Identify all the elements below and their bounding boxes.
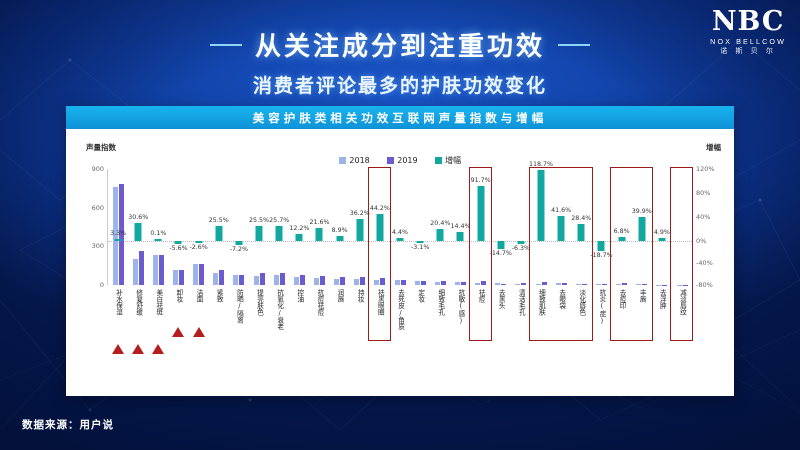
growth-data-label: 0.1%	[150, 230, 166, 237]
growth-bar	[296, 234, 303, 241]
bar-2019	[401, 280, 406, 285]
bar-2018	[636, 284, 641, 285]
legend-label: 2018	[349, 156, 369, 165]
x-axis-label-item: 去眼袋	[551, 289, 571, 349]
x-axis-label-text: 修复舒缓	[135, 289, 142, 349]
chart-card-header-label: 美容护肤类相关功效互联网声量指数与增幅	[253, 110, 548, 126]
chart-column: 36.2%	[350, 169, 370, 285]
growth-bar	[437, 229, 444, 241]
bar-2019	[622, 283, 627, 285]
x-axis-label-text: 祛黑眼圈	[376, 289, 383, 349]
legend-swatch-icon	[387, 157, 394, 164]
bar-2019	[360, 277, 365, 285]
x-axis-label-item: 抗痘祛痘	[309, 289, 329, 349]
chart-column: 44.2%	[370, 169, 390, 285]
bar-2018	[354, 279, 359, 285]
chart-column: 12.2%	[289, 169, 309, 285]
bar-2019	[521, 283, 526, 285]
chart-column: 3.3%	[108, 169, 128, 285]
bar-pair	[491, 169, 511, 285]
bar-pair	[148, 169, 168, 285]
chart-column: -3.1%	[410, 169, 430, 285]
bar-2019	[421, 281, 426, 285]
x-axis-label-text: 抗痘祛痘	[316, 289, 323, 349]
legend-swatch-icon	[435, 157, 442, 164]
y-tick-right: 40%	[696, 213, 710, 221]
chart-column: 8.9%	[330, 169, 350, 285]
x-axis-label-item: 持妆	[350, 289, 370, 349]
x-axis-label-item: 细致肌肤	[531, 289, 551, 349]
bar-2018	[193, 264, 198, 285]
x-axis-label-text: 洁面	[195, 289, 202, 349]
slide-title-block: 从关注成分到注重功效 消费者评论最多的护肤功效变化	[0, 26, 800, 98]
x-axis-label-item: 抗敏(感)	[450, 289, 470, 349]
bar-2018	[415, 281, 420, 285]
x-axis-label-text: 丰唇	[638, 289, 645, 349]
chart-plot: 9006003000120%80%40%0%-40%-80%3.3%30.6%0…	[108, 169, 692, 285]
x-axis-label-text: 去浮肿	[658, 289, 665, 349]
x-axis-label-item: 美白祛斑	[148, 289, 168, 349]
bar-2018	[556, 283, 561, 285]
growth-bar	[397, 238, 404, 241]
page-subtitle: 消费者评论最多的护肤功效变化	[0, 71, 800, 98]
legend-item-增幅: 增幅	[435, 155, 462, 166]
bar-2018	[455, 282, 460, 285]
chart-column: 14.4%	[450, 169, 470, 285]
bar-2019	[239, 275, 244, 285]
legend-item-2019: 2019	[387, 155, 418, 166]
bar-2019	[300, 275, 305, 285]
x-axis-label-text: 去痘印	[618, 289, 625, 349]
chart-column	[672, 169, 692, 285]
growth-bar	[598, 241, 605, 251]
bar-2019	[139, 251, 144, 285]
growth-data-label: -5.6%	[169, 245, 187, 252]
x-axis-label-item: 去死皮/角质	[390, 289, 410, 349]
bar-2018	[475, 283, 480, 285]
chart-column: -14.7%	[491, 169, 511, 285]
bar-2019	[662, 285, 667, 286]
bar-2018	[274, 275, 279, 285]
growth-bar	[578, 224, 585, 241]
growth-data-label: 20.4%	[430, 220, 450, 227]
bar-2019	[481, 281, 486, 285]
bar-2018	[515, 284, 520, 285]
red-triangle-marker-icon	[172, 327, 184, 337]
chart-column: -18.7%	[591, 169, 611, 285]
bar-2018	[334, 279, 339, 285]
growth-data-label: 25.5%	[249, 217, 269, 224]
bar-2018	[616, 284, 621, 285]
bar-2019	[542, 282, 547, 285]
bar-2019	[280, 273, 285, 285]
chart-column: 25.5%	[209, 169, 229, 285]
bar-2019	[179, 270, 184, 285]
x-axis-label-text: 减淡唇纹	[679, 289, 686, 349]
growth-bar	[175, 241, 182, 244]
y-tick-right: -40%	[696, 259, 713, 267]
bar-2018	[435, 282, 440, 285]
growth-bar	[316, 228, 323, 241]
bar-2018	[374, 280, 379, 285]
bar-2019	[562, 283, 567, 285]
growth-data-label: -14.7%	[490, 250, 512, 257]
x-axis-label-item: 祛痘	[471, 289, 491, 349]
x-axis-label-text: 提亮肤色	[256, 289, 263, 349]
growth-bar	[538, 170, 545, 241]
x-axis-label-text: 定妆	[417, 289, 424, 349]
x-axis-label-item: 润唇	[330, 289, 350, 349]
x-axis-label-item: 提亮肤色	[249, 289, 269, 349]
growth-data-label: 3.3%	[110, 230, 126, 237]
chart-column: 39.9%	[632, 169, 652, 285]
x-axis-label-text: 持妆	[356, 289, 363, 349]
chart-column: 0.1%	[148, 169, 168, 285]
x-axis-label-item: 定妆	[410, 289, 430, 349]
growth-data-label: 14.4%	[450, 223, 470, 230]
bar-2018	[495, 283, 500, 285]
x-axis-label-item: 控油	[289, 289, 309, 349]
bar-2019	[582, 284, 587, 285]
x-axis-label-text: 润唇	[336, 289, 343, 349]
bar-2019	[642, 284, 647, 285]
chart-area: 声量指数 增幅 20182019增幅 9006003000120%80%40%0…	[66, 129, 734, 396]
bar-pair	[410, 169, 430, 285]
growth-bar	[376, 214, 383, 240]
growth-bar	[256, 226, 263, 241]
growth-data-label: 36.2%	[350, 210, 370, 217]
x-axis-label-item: 抗炎(症)	[591, 289, 611, 349]
chart-column: -6.3%	[511, 169, 531, 285]
page-title: 从关注成分到注重功效	[255, 26, 545, 63]
x-axis-label-text: 去黑头	[497, 289, 504, 349]
x-axis-label-item: 补水保湿	[108, 289, 128, 349]
chart-column: 4.4%	[390, 169, 410, 285]
y-tick-right: 80%	[696, 189, 710, 197]
growth-data-label: -6.3%	[512, 245, 530, 252]
growth-bar	[115, 239, 122, 241]
y-tick-left: 600	[92, 204, 104, 212]
growth-bar	[638, 217, 645, 241]
bar-2018	[576, 284, 581, 285]
growth-data-label: 4.9%	[654, 229, 670, 236]
bar-2018	[254, 276, 259, 285]
growth-data-label: 39.9%	[632, 208, 652, 215]
y-tick-right: 0%	[696, 237, 706, 245]
chart-columns: 3.3%30.6%0.1%-5.6%-2.6%25.5%-7.2%25.5%25…	[108, 169, 692, 285]
axis-line-right	[692, 169, 693, 285]
growth-data-label: 30.6%	[128, 214, 148, 221]
growth-data-label: 91.7%	[471, 177, 491, 184]
x-axis-label-item: 淡化唇色	[571, 289, 591, 349]
bar-pair	[108, 169, 128, 285]
growth-bar	[336, 236, 343, 241]
chart-column: 6.8%	[612, 169, 632, 285]
x-axis-label-item: 细致毛孔	[430, 289, 450, 349]
x-axis-label-text: 紧致	[215, 289, 222, 349]
bar-pair	[168, 169, 188, 285]
x-axis-label-item: 祛黑眼圈	[370, 289, 390, 349]
legend-label: 2019	[397, 156, 417, 165]
x-axis-label-item: 减淡唇纹	[672, 289, 692, 349]
chart-column: -2.6%	[189, 169, 209, 285]
growth-bar	[235, 241, 242, 245]
chart-column: -5.6%	[168, 169, 188, 285]
bar-2018	[395, 280, 400, 285]
growth-data-label: -3.1%	[411, 244, 429, 251]
chart-column: 91.7%	[471, 169, 491, 285]
bar-2019	[441, 281, 446, 285]
red-triangle-marker-icon	[193, 327, 205, 337]
growth-data-label: 28.4%	[571, 215, 591, 222]
chart-column: -7.2%	[229, 169, 249, 285]
bar-2019	[159, 255, 164, 285]
growth-data-label: 4.4%	[392, 229, 408, 236]
bar-2019	[260, 273, 265, 285]
chart-column: 20.4%	[430, 169, 450, 285]
growth-bar	[658, 238, 665, 241]
x-axis-label-text: 淡化唇色	[578, 289, 585, 349]
y-axis-title-right: 增幅	[706, 142, 721, 153]
x-axis-label-item: 去黑头	[491, 289, 511, 349]
bar-2019	[602, 284, 607, 285]
x-axis-label-text: 清洁毛孔	[517, 289, 524, 349]
growth-data-label: 44.2%	[370, 205, 390, 212]
x-axis-label-text: 抗敏(感)	[457, 289, 464, 349]
growth-data-label: 6.8%	[614, 228, 630, 235]
chart-column: 25.5%	[249, 169, 269, 285]
chart-legend: 20182019增幅	[66, 155, 734, 166]
chart-card: 美容护肤类相关功效互联网声量指数与增幅 声量指数 增幅 20182019增幅 9…	[66, 106, 734, 396]
chart-column: 25.7%	[269, 169, 289, 285]
x-axis-label-text: 控油	[296, 289, 303, 349]
bar-2018	[314, 278, 319, 285]
legend-swatch-icon	[339, 157, 346, 164]
red-triangle-marker-icon	[152, 344, 164, 354]
bar-2019	[380, 278, 385, 285]
growth-bar	[135, 223, 142, 241]
bar-2019	[199, 264, 204, 285]
growth-bar	[276, 226, 283, 241]
bar-2019	[320, 276, 325, 285]
x-axis-label-item: 卸妆	[168, 289, 188, 349]
growth-bar	[215, 226, 222, 241]
chart-column: 21.6%	[309, 169, 329, 285]
growth-bar	[517, 241, 524, 244]
growth-bar	[558, 216, 565, 241]
bar-2018	[133, 259, 138, 285]
bar-pair	[591, 169, 611, 285]
growth-data-label: 41.6%	[551, 207, 571, 214]
x-axis-label-item: 紧致	[209, 289, 229, 349]
growth-data-label: 118.7%	[529, 161, 553, 168]
bar-pair	[430, 169, 450, 285]
bar-2018	[294, 277, 299, 285]
growth-bar	[195, 241, 202, 243]
growth-data-label: 25.7%	[269, 217, 289, 224]
x-axis-label-item: 去浮肿	[652, 289, 672, 349]
y-tick-left: 900	[92, 165, 104, 173]
chart-column: 4.9%	[652, 169, 672, 285]
y-tick-right: -80%	[696, 281, 713, 289]
bar-pair	[511, 169, 531, 285]
bar-2019	[340, 277, 345, 285]
x-axis-label-item: 防晒/隔离	[229, 289, 249, 349]
x-axis-label-text: 卸妆	[175, 289, 182, 349]
bar-pair	[189, 169, 209, 285]
x-axis-label-text: 去死皮/角质	[397, 289, 404, 349]
x-axis-label-text: 美白祛斑	[155, 289, 162, 349]
bar-2019	[219, 270, 224, 285]
growth-data-label: 12.2%	[289, 225, 309, 232]
growth-data-label: 21.6%	[309, 219, 329, 226]
x-axis-labels: 补水保湿修复舒缓美白祛斑卸妆洁面紧致防晒/隔离提亮肤色抗氧化/衰老控油抗痘祛痘润…	[108, 289, 692, 349]
data-source-label: 数据来源：用户说	[22, 417, 114, 432]
legend-label: 增幅	[445, 155, 461, 166]
bar-2018	[536, 284, 541, 285]
x-axis-label-item: 清洁毛孔	[511, 289, 531, 349]
bar-2019	[461, 282, 466, 285]
x-axis-label-item: 去痘印	[612, 289, 632, 349]
title-dash-right-icon	[558, 44, 590, 46]
x-axis-label-text: 祛痘	[477, 289, 484, 349]
x-axis-label-text: 补水保湿	[115, 289, 122, 349]
title-dash-left-icon	[210, 44, 242, 46]
growth-data-label: -18.7%	[590, 252, 612, 259]
bar-2018	[173, 270, 178, 285]
bar-2018	[213, 273, 218, 285]
growth-bar	[155, 239, 162, 241]
x-axis-label-text: 去眼袋	[558, 289, 565, 349]
red-triangle-marker-icon	[112, 344, 124, 354]
x-axis-label-item: 修复舒缓	[128, 289, 148, 349]
growth-data-label: -7.2%	[230, 246, 248, 253]
bar-2018	[233, 275, 238, 285]
growth-bar	[417, 241, 424, 243]
growth-data-label: 8.9%	[332, 227, 348, 234]
growth-data-label: -2.6%	[189, 244, 207, 251]
growth-bar	[477, 186, 484, 241]
x-axis-label-text: 防晒/隔离	[235, 289, 242, 349]
y-tick-right: 120%	[696, 165, 715, 173]
legend-item-2018: 2018	[339, 155, 370, 166]
bar-2018	[656, 285, 661, 286]
red-triangle-marker-icon	[132, 344, 144, 354]
bar-pair	[672, 169, 692, 285]
y-axis-title-left: 声量指数	[86, 142, 116, 153]
chart-column: 41.6%	[551, 169, 571, 285]
chart-column: 28.4%	[571, 169, 591, 285]
x-axis-label-text: 抗氧化/衰老	[276, 289, 283, 349]
x-axis-label-item: 洁面	[189, 289, 209, 349]
x-axis-label-text: 抗炎(症)	[598, 289, 605, 349]
chart-column: 30.6%	[128, 169, 148, 285]
x-axis-label-item: 丰唇	[632, 289, 652, 349]
bar-pair	[390, 169, 410, 285]
growth-bar	[356, 219, 363, 241]
y-tick-left: 0	[100, 281, 104, 289]
y-tick-left: 300	[92, 242, 104, 250]
bar-2018	[596, 284, 601, 285]
x-axis-label-text: 细致肌肤	[538, 289, 545, 349]
growth-data-label: 25.5%	[209, 217, 229, 224]
growth-bar	[497, 241, 504, 249]
bar-pair	[652, 169, 672, 285]
x-axis-label-text: 细致毛孔	[437, 289, 444, 349]
chart-card-header: 美容护肤类相关功效互联网声量指数与增幅	[66, 106, 734, 129]
bar-2018	[153, 255, 158, 285]
title-row: 从关注成分到注重功效	[0, 26, 800, 63]
bar-pair	[229, 169, 249, 285]
bar-2019	[501, 284, 506, 285]
x-axis-label-item: 抗氧化/衰老	[269, 289, 289, 349]
chart-column: 118.7%	[531, 169, 551, 285]
growth-bar	[457, 232, 464, 241]
growth-bar	[618, 237, 625, 241]
